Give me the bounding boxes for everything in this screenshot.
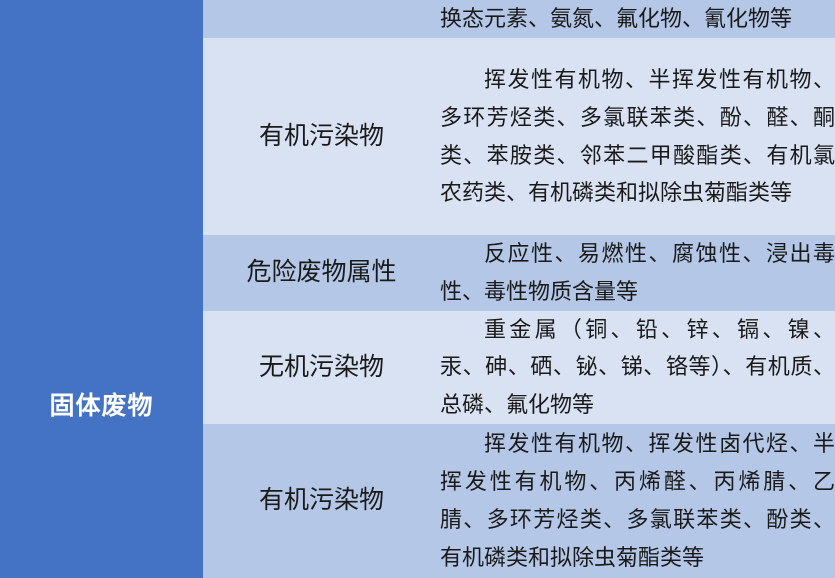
category-label: 固体废物 bbox=[0, 392, 203, 422]
subcategory-cell-inorganic-pollutants: 无机污染物 bbox=[203, 311, 440, 424]
indicators-text: 换态元素、氨氮、氟化物、氰化物等 bbox=[440, 6, 835, 32]
indicators-cell: 挥发性有机物、挥发性卤代烃、半挥发性有机物、丙烯醛、丙烯腈、乙腈、多环芳烃类、多… bbox=[440, 424, 835, 578]
table-row: 换态元素、氨氮、氟化物、氰化物等 bbox=[0, 0, 835, 38]
subcategory-label: 无机污染物 bbox=[259, 354, 384, 381]
subcategory-label: 有机污染物 bbox=[259, 123, 384, 150]
subcategory-cell-hazardous-waste-attributes: 危险废物属性 bbox=[203, 235, 440, 311]
comparison-table-container: 换态元素、氨氮、氟化物、氰化物等 有机污染物 挥发性有机物、半挥发性有机物、多环… bbox=[0, 0, 835, 574]
indicators-cell: 重金属（铜、铅、锌、镉、镍、汞、砷、硒、铋、锑、铬等）、有机质、总磷、氟化物等 bbox=[440, 311, 835, 424]
subcategory-cell-organic-pollutants-2: 有机污染物 bbox=[203, 424, 440, 578]
subcategory-cell-organic-pollutants-1: 有机污染物 bbox=[203, 38, 440, 235]
subcategory-label: 有机污染物 bbox=[259, 487, 384, 514]
indicators-text: 挥发性有机物、挥发性卤代烃、半挥发性有机物、丙烯醛、丙烯腈、乙腈、多环芳烃类、多… bbox=[440, 425, 835, 576]
category-cell-solid-waste: 固体废物 bbox=[0, 235, 203, 578]
indicators-text: 挥发性有机物、半挥发性有机物、多环芳烃类、多氯联苯类、酚、醛、酮类、苯胺类、邻苯… bbox=[440, 61, 835, 212]
category-cell-empty bbox=[0, 0, 203, 235]
table-row: 固体废物 危险废物属性 反应性、易燃性、腐蚀性、浸出毒性、毒性物质含量等 bbox=[0, 235, 835, 311]
subcategory-label: 危险废物属性 bbox=[246, 259, 396, 286]
indicators-text: 重金属（铜、铅、锌、镉、镍、汞、砷、硒、铋、锑、铬等）、有机质、总磷、氟化物等 bbox=[440, 311, 835, 424]
indicators-text: 反应性、易燃性、腐蚀性、浸出毒性、毒性物质含量等 bbox=[440, 235, 835, 311]
indicators-cell: 反应性、易燃性、腐蚀性、浸出毒性、毒性物质含量等 bbox=[440, 235, 835, 311]
indicators-cell: 换态元素、氨氮、氟化物、氰化物等 bbox=[440, 0, 835, 38]
indicators-cell: 挥发性有机物、半挥发性有机物、多环芳烃类、多氯联苯类、酚、醛、酮类、苯胺类、邻苯… bbox=[440, 38, 835, 235]
subcategory-cell-empty bbox=[203, 0, 440, 38]
pollutant-indicator-table: 换态元素、氨氮、氟化物、氰化物等 有机污染物 挥发性有机物、半挥发性有机物、多环… bbox=[0, 0, 835, 578]
